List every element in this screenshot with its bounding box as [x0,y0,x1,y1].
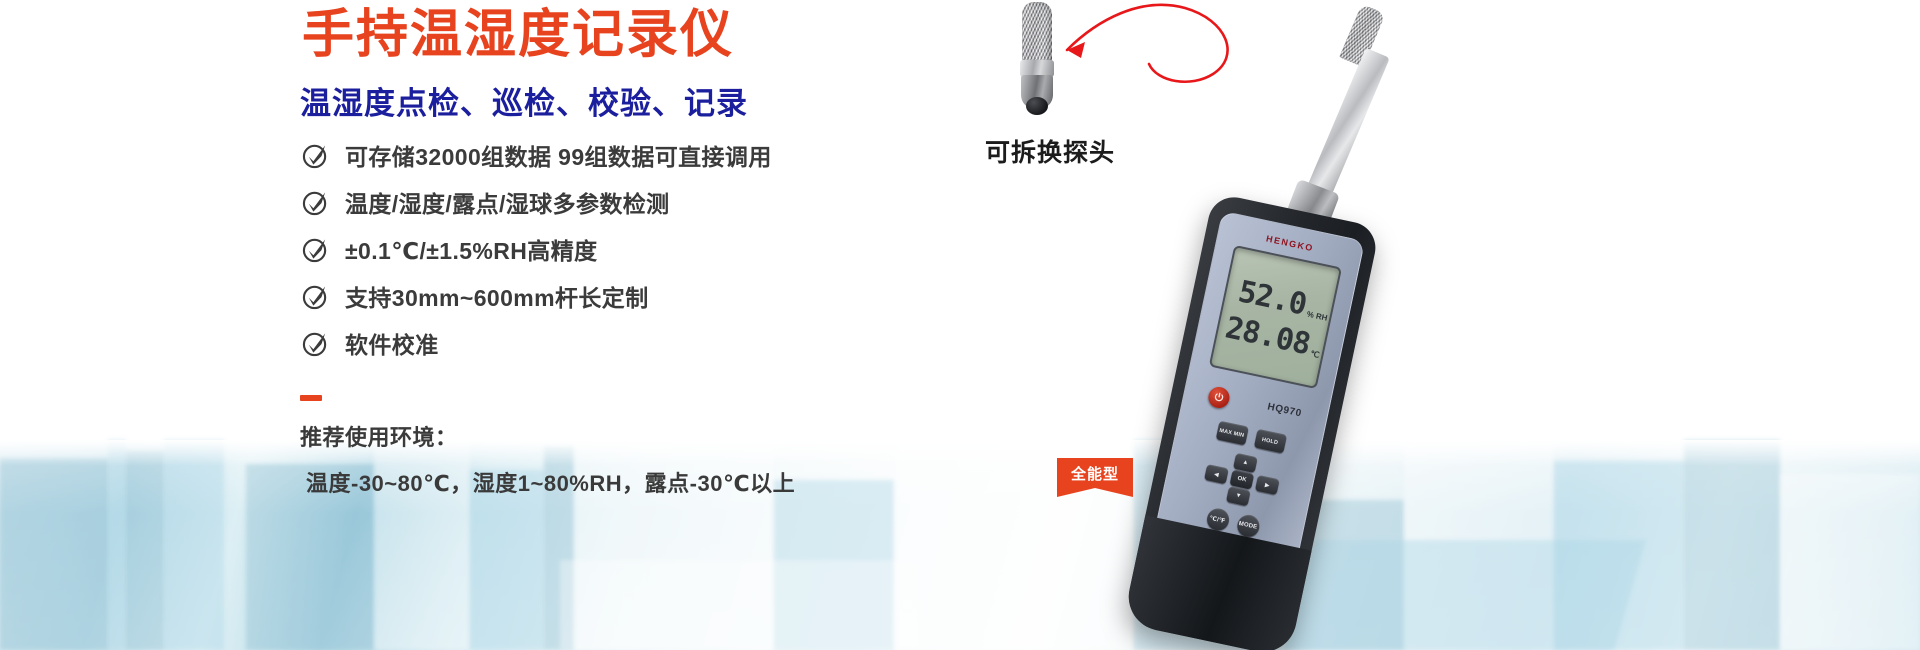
page-subtitle: 温湿度点检、巡检、校验、记录 [300,78,748,123]
feature-text: 可存储32000组数据 99组数据可直接调用 [345,138,772,172]
lcd-screen: 52.0 % RH 28.08 ℃ [1209,245,1342,389]
product-banner: 手持温湿度记录仪 温湿度点检、巡检、校验、记录 可存储32000组数据 99组数… [0,0,1920,650]
probe-callout-label: 可拆换探头 [985,133,1115,169]
background-photo-band [0,440,1920,650]
feature-text: 支持30mm~600mm杆长定制 [345,279,649,313]
feature-text: ±0.1℃/±1.5%RH高精度 [345,232,598,266]
device-body: HENGKO 52.0 % RH 28.08 ℃ [1122,192,1380,650]
list-item: 温度/湿度/露点/湿球多参数检测 [302,178,1022,225]
environment-detail: 温度-30~80℃，湿度1~80%RH，露点-30℃以上 [300,466,795,498]
navigation-dpad: ▲ ◀ OK ▶ ▼ [1200,447,1283,511]
check-circle-icon [302,142,329,169]
key-maxmin[interactable]: MAX MIN [1215,421,1248,446]
key-down[interactable]: ▼ [1226,486,1251,506]
divider-dash [300,395,322,401]
check-circle-icon [302,283,329,310]
keypad-row: MAX MIN HOLD [1190,415,1311,459]
background-blocks [0,440,1920,650]
check-circle-icon [302,330,329,357]
model-number: HQ970 [1266,401,1302,419]
key-left[interactable]: ◀ [1204,464,1229,484]
check-circle-icon [302,189,329,216]
key-right[interactable]: ▶ [1255,475,1280,495]
key-hold[interactable]: HOLD [1253,429,1286,454]
power-icon[interactable] [1206,385,1231,410]
list-item: 可存储32000组数据 99组数据可直接调用 [302,131,1022,178]
lcd-humidity-unit: % RH [1305,310,1328,326]
status-badge: 全能型 [1057,458,1133,488]
page-title: 手持温湿度记录仪 [302,8,734,63]
feature-text: 温度/湿度/露点/湿球多参数检测 [345,185,670,219]
feature-text: 软件校准 [345,326,439,360]
probe-connector [1026,97,1048,115]
band-fade [0,440,1920,466]
probe-mesh-filter [1022,2,1052,64]
lcd-temperature-unit: ℃ [1309,349,1320,363]
check-circle-icon [302,236,329,263]
list-item: ±0.1℃/±1.5%RH高精度 [302,225,1022,272]
list-item: 软件校准 [302,319,1022,366]
environment-block: 推荐使用环境： 温度-30~80℃，湿度1~80%RH，露点-30℃以上 [300,420,795,498]
list-item: 支持30mm~600mm杆长定制 [302,272,1022,319]
detachable-probe-image [1010,2,1080,120]
feature-list: 可存储32000组数据 99组数据可直接调用 温度/湿度/露点/湿球多参数检测 … [302,131,1022,366]
environment-heading: 推荐使用环境： [300,420,795,452]
